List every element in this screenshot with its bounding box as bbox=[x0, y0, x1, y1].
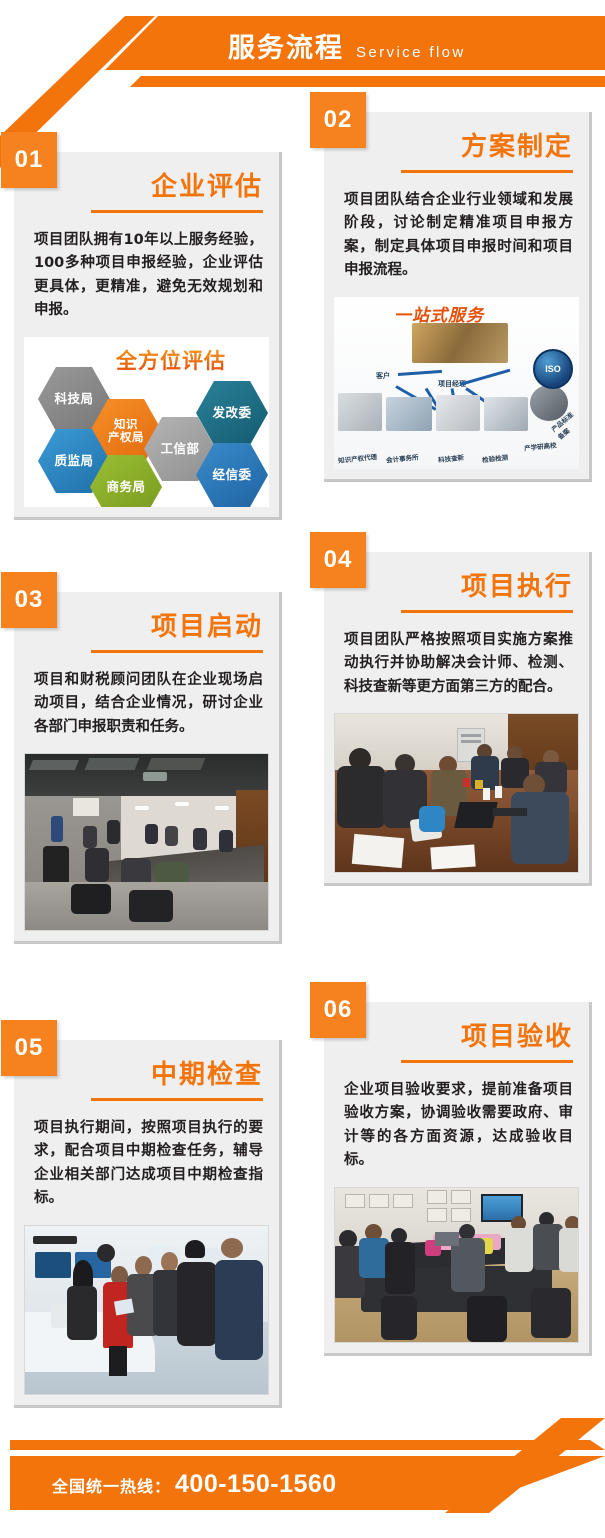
photo-working-meeting bbox=[334, 713, 579, 873]
os-photo-1 bbox=[338, 393, 382, 431]
card-04-body: 项目团队严格按照项目实施方案推动执行并协助解决会计师、检测、科技查新等更方面第三… bbox=[324, 613, 589, 713]
card-01-body: 项目团队拥有10年以上服务经验，100多种项目申报经验，企业评估更具体，更精准，… bbox=[14, 213, 279, 337]
service-flow-poster: 服务流程 Service flow 01 企业评估 项目团队拥有10年以上服务经… bbox=[0, 0, 605, 1538]
card-06-number: 06 bbox=[310, 982, 366, 1038]
hotline-number: 400-150-1560 bbox=[175, 1470, 337, 1499]
one-stop-service-graphic: 一站式服务 客户 项目经理 ISO 知识产权代理 bbox=[334, 297, 579, 469]
os-bottom-label-3: 科技查新 bbox=[438, 452, 465, 465]
card-03[interactable]: 03 项目启动 项目和财税顾问团队在企业现场启动项目，结合企业情况，研讨企业各部… bbox=[14, 592, 282, 944]
assessment-hexagon-graphic: 全方位评估 科技局 知识 产权局 发改委 质监局 工信部 商务局 经信委 bbox=[24, 337, 269, 507]
card-06[interactable]: 06 项目验收 企业项目验收要求，提前准备项目验收方案，协调验收需要政府、审计等… bbox=[324, 1002, 592, 1356]
card-01-media: 全方位评估 科技局 知识 产权局 发改委 质监局 工信部 商务局 经信委 bbox=[14, 337, 279, 517]
card-04[interactable]: 04 项目执行 项目团队严格按照项目实施方案推动执行并协助解决会计师、检测、科技… bbox=[324, 552, 592, 886]
page-header: 服务流程 Service flow bbox=[0, 0, 605, 104]
card-01-number: 01 bbox=[1, 132, 57, 188]
card-03-media bbox=[14, 753, 279, 941]
assessment-graphic-title: 全方位评估 bbox=[116, 345, 226, 375]
os-arrow-1 bbox=[398, 370, 442, 376]
hotline-label: 全国统一热线： bbox=[52, 1473, 171, 1497]
card-05-media bbox=[14, 1225, 279, 1405]
photo-conference-room bbox=[24, 753, 269, 931]
os-label-customer: 客户 bbox=[376, 371, 390, 381]
os-photo-2 bbox=[386, 397, 432, 431]
page-title-cn: 服务流程 bbox=[228, 26, 344, 65]
footer-stripe-shape bbox=[10, 1440, 605, 1450]
card-04-number: 04 bbox=[310, 532, 366, 588]
photo-acceptance-meeting bbox=[334, 1187, 579, 1343]
os-bottom-label-5: 产学研高校 bbox=[524, 439, 557, 452]
card-02-body: 项目团队结合企业行业领域和发展阶段，讨论制定精准项目申报方案，制定具体项目申报时… bbox=[324, 173, 589, 297]
card-02[interactable]: 02 方案制定 项目团队结合企业行业领域和发展阶段，讨论制定精准项目申报方案，制… bbox=[324, 112, 592, 482]
card-04-media bbox=[324, 713, 589, 883]
card-06-body: 企业项目验收要求，提前准备项目验收方案，协调验收需要政府、审计等的各方面资源，达… bbox=[324, 1063, 589, 1187]
card-02-media: 一站式服务 客户 项目经理 ISO 知识产权代理 bbox=[324, 297, 589, 479]
card-06-media bbox=[324, 1187, 589, 1353]
card-05-number: 05 bbox=[1, 1020, 57, 1076]
os-bottom-label-1: 知识产权代理 bbox=[338, 451, 378, 465]
page-footer: 全国统一热线： 400-150-1560 bbox=[0, 1418, 605, 1538]
os-bottom-label-4: 检验检测 bbox=[482, 452, 509, 465]
hotline: 全国统一热线： 400-150-1560 bbox=[52, 1470, 337, 1499]
os-arrow-2 bbox=[460, 369, 511, 386]
os-photo-4 bbox=[484, 397, 528, 431]
card-05[interactable]: 05 中期检查 项目执行期间，按照项目执行的要求，配合项目中期检查任务，辅导企业… bbox=[14, 1040, 282, 1408]
page-title: 服务流程 Service flow bbox=[228, 26, 466, 64]
card-05-body: 项目执行期间，按照项目执行的要求，配合项目中期检查任务，辅导企业相关部门达成项目… bbox=[14, 1101, 279, 1225]
page-title-en: Service flow bbox=[356, 44, 466, 61]
card-03-number: 03 bbox=[1, 572, 57, 628]
iso-seal-icon: ISO bbox=[533, 349, 573, 389]
os-photo-3 bbox=[436, 395, 480, 431]
card-01[interactable]: 01 企业评估 项目团队拥有10年以上服务经验，100多种项目申报经验，企业评估… bbox=[14, 152, 282, 520]
card-02-number: 02 bbox=[310, 92, 366, 148]
os-center-photo bbox=[412, 323, 508, 363]
photo-site-visit bbox=[24, 1225, 269, 1395]
card-03-body: 项目和财税顾问团队在企业现场启动项目，结合企业情况，研讨企业各部门申报职责和任务… bbox=[14, 653, 279, 753]
os-bottom-label-2: 会计事务所 bbox=[386, 451, 419, 464]
